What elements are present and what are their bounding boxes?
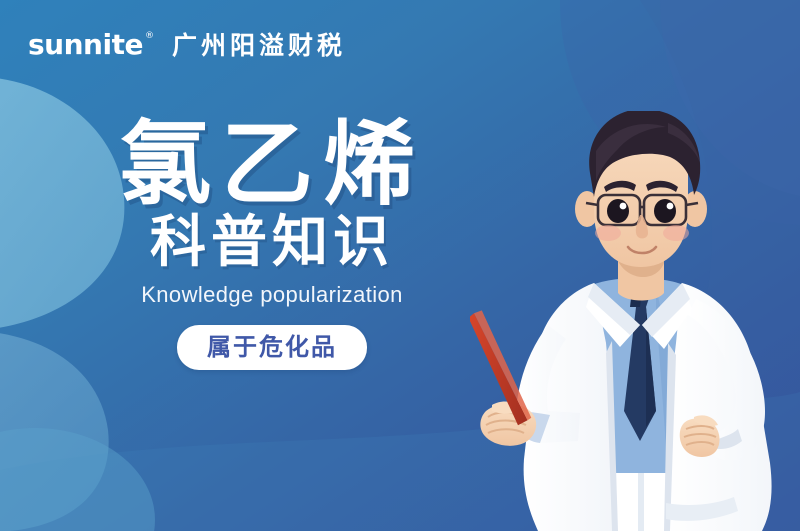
page-subtitle: 科普知识 (14, 214, 530, 273)
poster-canvas: sunnite ® 广州阳溢财税 氯乙烯 科普知识 Knowledge popu… (0, 0, 800, 531)
headline-block: 氯乙烯 科普知识 Knowledge popularization 属于危化品 (0, 118, 530, 370)
logo-wordmark: sunnite (28, 31, 143, 59)
registered-trademark-icon: ® (145, 32, 154, 41)
status-badge: 属于危化品 (177, 325, 367, 370)
sunnite-logo: sunnite ® (28, 31, 154, 59)
page-title: 氯乙烯 (14, 118, 530, 212)
brand-bar: sunnite ® 广州阳溢财税 (28, 31, 346, 59)
english-subtitle: Knowledge popularization (14, 283, 530, 307)
company-name-cn: 广州阳溢财税 (172, 33, 346, 58)
